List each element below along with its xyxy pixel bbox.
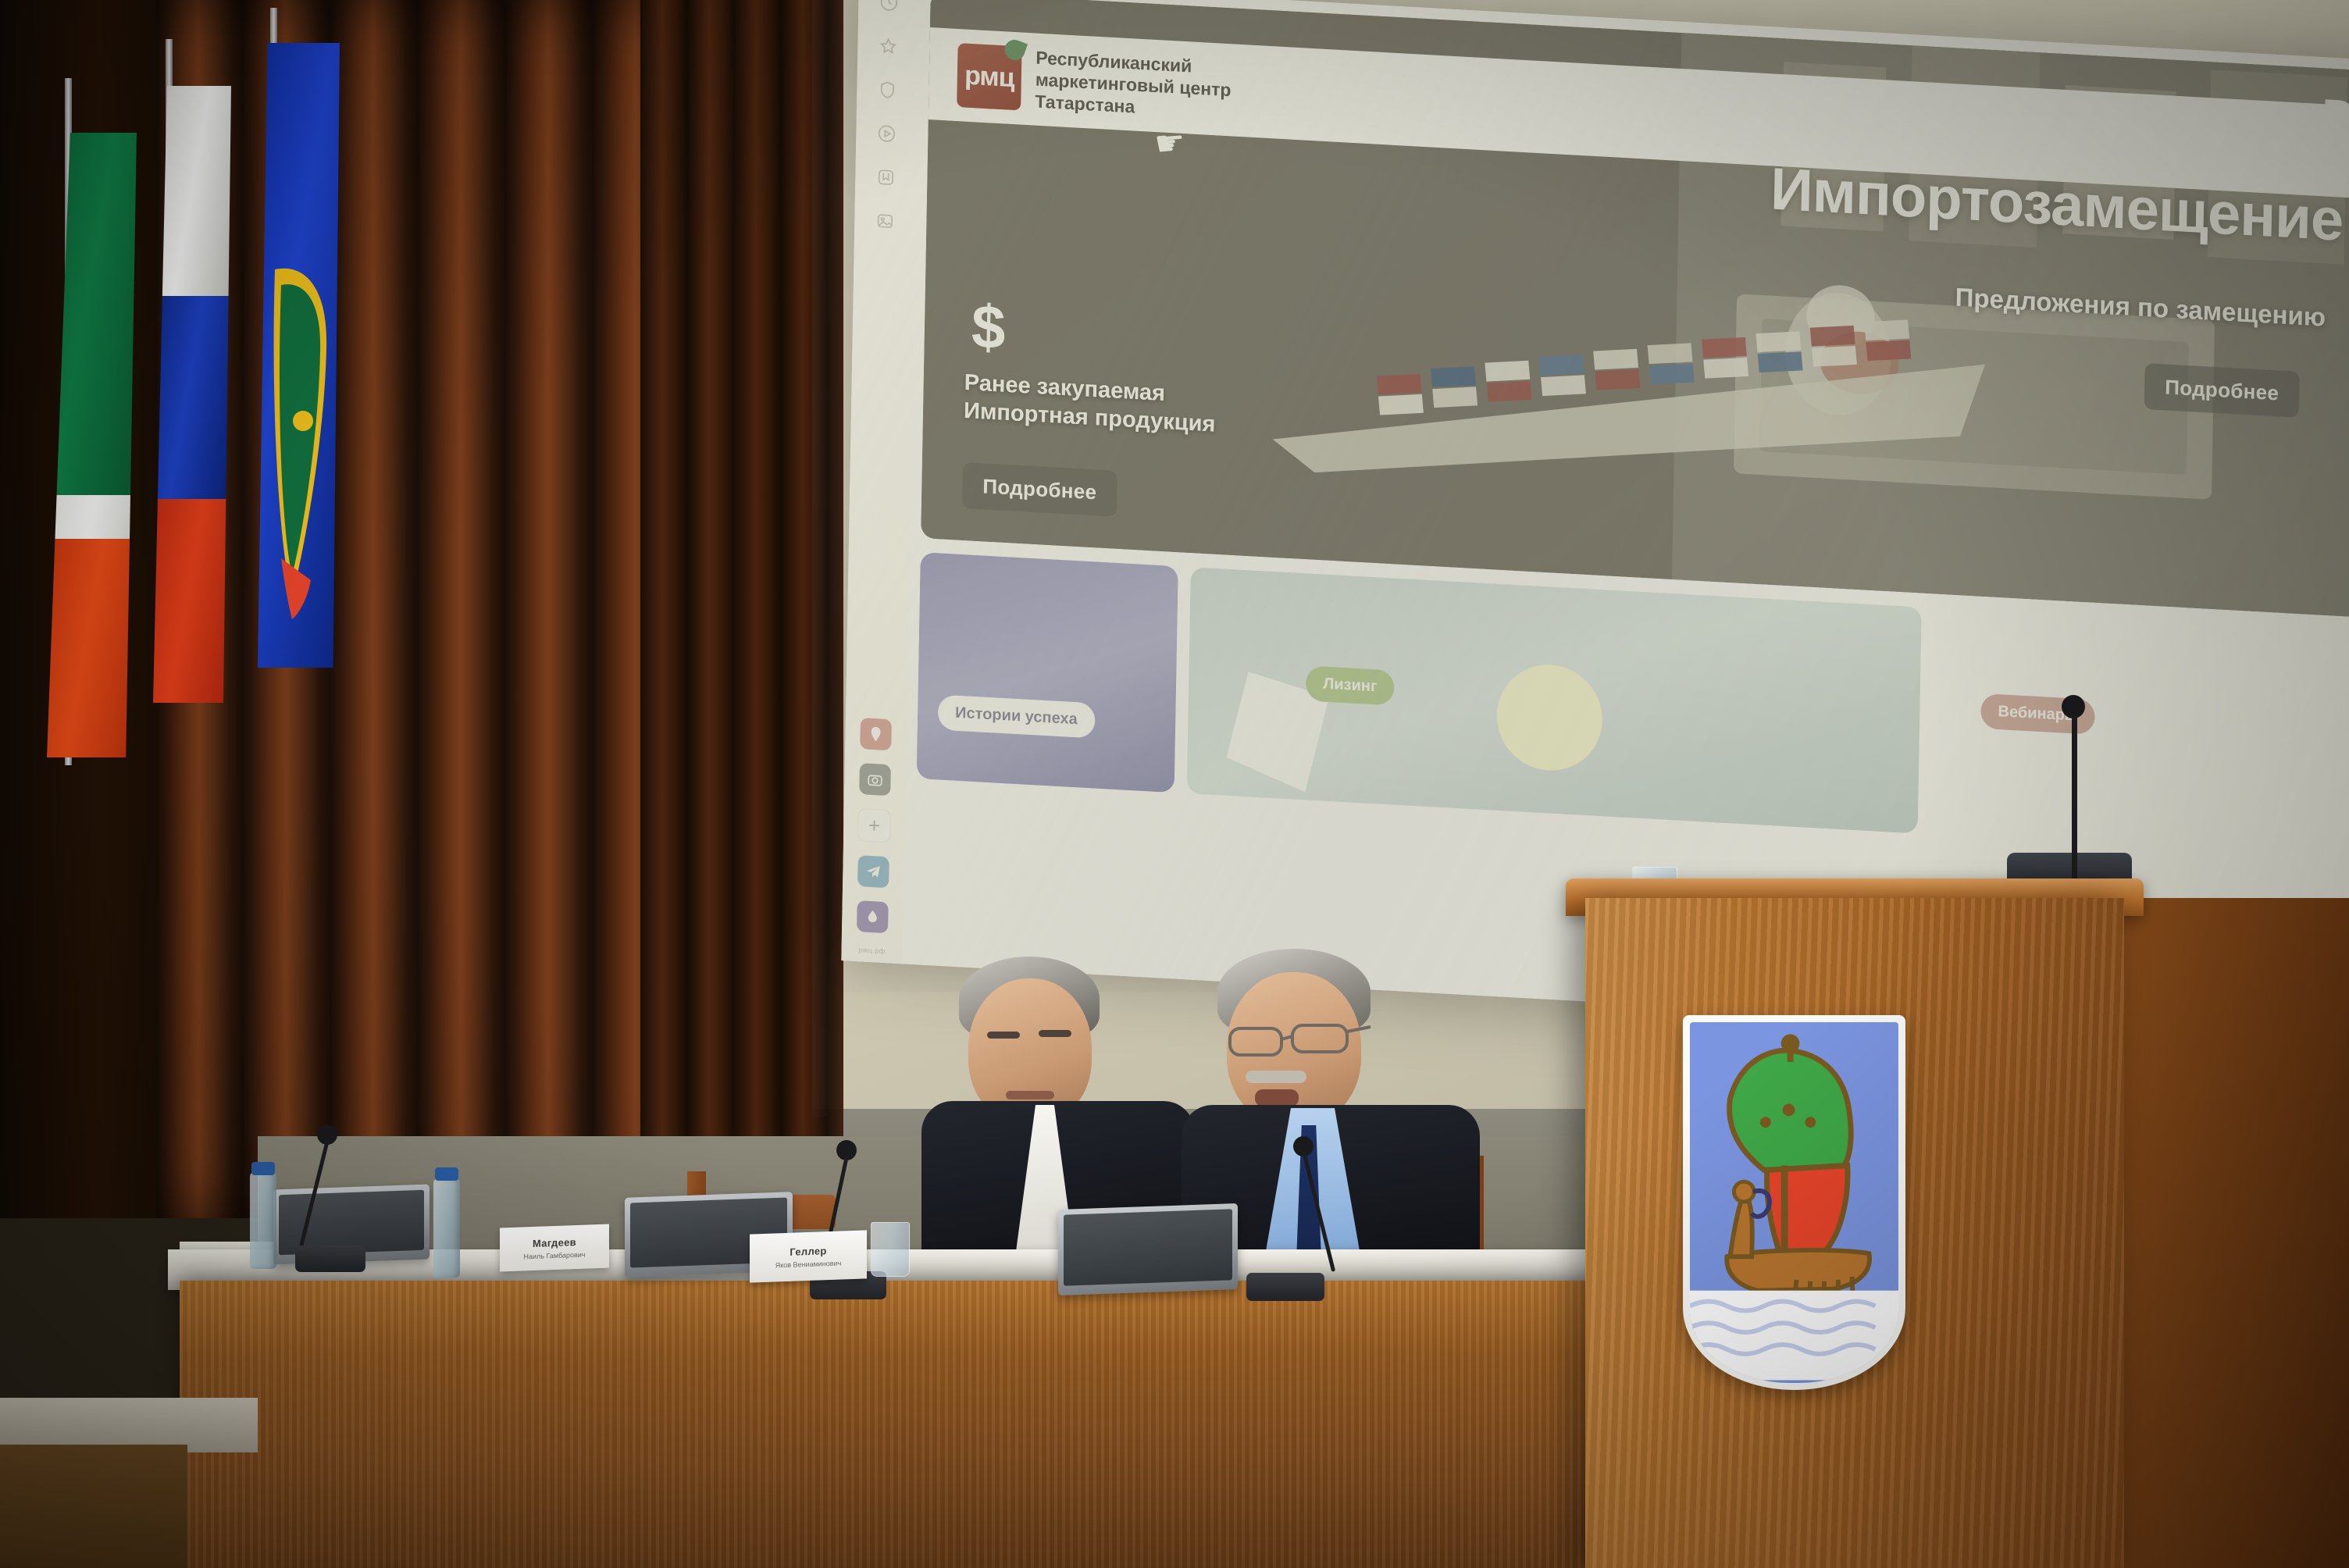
image-icon[interactable] <box>872 207 899 235</box>
name-placard: Магдеев Наиль Гамбарович <box>500 1224 609 1272</box>
stage-floor <box>0 1445 187 1568</box>
location-pin-icon[interactable] <box>860 718 892 750</box>
dollar-icon: $ <box>971 290 1006 363</box>
card-success-stories[interactable]: Истории успеха <box>917 552 1178 793</box>
logo-wordmark: рмц <box>964 60 1014 93</box>
city-coat-of-arms <box>1683 1015 1905 1390</box>
bottle-cap <box>251 1162 275 1175</box>
plus-icon[interactable] <box>857 808 891 843</box>
eyeglasses-icon <box>1227 1021 1372 1061</box>
shield-icon[interactable] <box>874 76 901 104</box>
placard-subtitle: Яков Вениаминович <box>775 1259 842 1269</box>
decorative-circle <box>1496 662 1603 773</box>
desk-monitor <box>1058 1203 1238 1295</box>
placard-subtitle: Наиль Гамбарович <box>524 1250 586 1260</box>
water-bottle <box>433 1178 460 1278</box>
hero-card: рмц Республиканский маркетинговый центр … <box>921 0 2349 618</box>
flag-naberezhnye-chelny <box>258 43 340 668</box>
history-icon[interactable] <box>875 0 903 16</box>
placard-name: Геллер <box>790 1245 826 1258</box>
telegram-icon[interactable] <box>857 855 889 888</box>
star-bookmark-icon[interactable] <box>875 32 902 60</box>
leaf-icon <box>1002 37 1028 63</box>
droplet-icon[interactable] <box>857 900 889 933</box>
camera-icon[interactable] <box>859 763 891 796</box>
placard-name: Магдеев <box>533 1236 576 1249</box>
brand-name: Республиканский маркетинговый центр Тата… <box>1035 46 1232 123</box>
stage-curtain-edge <box>640 0 843 1218</box>
more-details-button-right[interactable]: Подробнее <box>2144 363 2300 418</box>
boat-emblem-icon <box>1690 1022 1898 1383</box>
site-watermark: рмц.рф <box>858 946 886 961</box>
city-emblem-icon <box>262 191 334 629</box>
card-webinars[interactable]: Вебинары <box>1930 608 2349 858</box>
card-leasing[interactable]: Лизинг <box>1187 567 1922 833</box>
bottle-cap <box>435 1167 458 1181</box>
water-bottle <box>250 1171 276 1269</box>
container-ship-graphic <box>1246 269 2024 495</box>
play-circle-icon[interactable] <box>873 119 900 148</box>
ruble-icon: ₽ <box>2317 88 2349 158</box>
podium-side <box>2124 898 2349 1568</box>
name-placard: Геллер Яков Вениаминович <box>750 1230 867 1282</box>
rostrum-panel-desk <box>180 1281 1609 1568</box>
conference-hall-photo: рмц.рф <box>0 0 2349 1568</box>
card-chip-label: Истории успеха <box>938 694 1095 738</box>
rmc-logo-icon: рмц <box>957 43 1021 111</box>
bookmark-square-icon[interactable] <box>872 163 900 191</box>
more-details-button-left[interactable]: Подробнее <box>962 462 1117 517</box>
pointer-cursor-icon: ☛ <box>1153 122 1188 164</box>
drinking-glass <box>871 1222 910 1277</box>
card-chip-label: Лизинг <box>1306 665 1395 705</box>
